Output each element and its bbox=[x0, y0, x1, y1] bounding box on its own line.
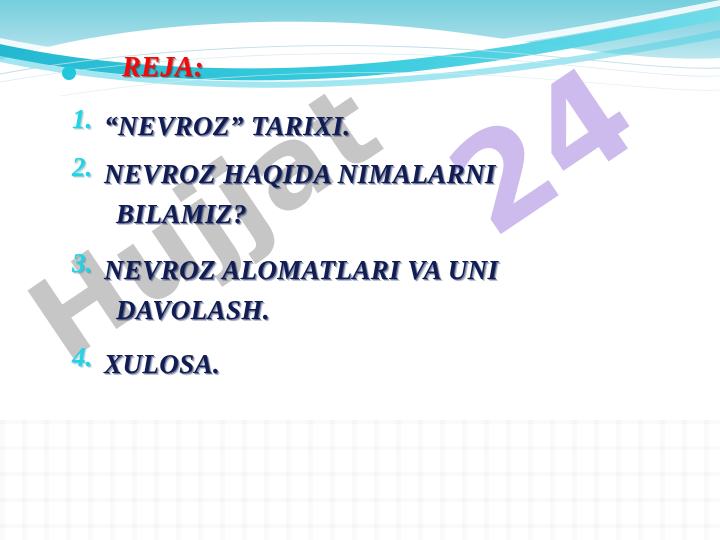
list-item: 2. NEVROZ HAQIDA NIMALARNI BILAMIZ? bbox=[72, 154, 496, 234]
list-item-label: NEVROZ ALOMATLARI VA UNI bbox=[104, 255, 498, 285]
list-item-number: 2. bbox=[72, 154, 104, 181]
list-item-number: 3. bbox=[72, 250, 104, 277]
list-item-label: XULOSA. bbox=[104, 344, 220, 384]
list-item: 4. XULOSA. bbox=[72, 344, 220, 384]
heading-row: REJA: bbox=[62, 54, 204, 82]
list-item-label-continued: BILAMIZ? bbox=[104, 194, 496, 234]
bullet-icon bbox=[62, 66, 76, 80]
list-item: 3. NEVROZ ALOMATLARI VA UNI DAVOLASH. bbox=[72, 250, 498, 330]
list-item: 1. “NEVROZ” TARIXI. bbox=[72, 106, 350, 146]
list-item-label-group: NEVROZ ALOMATLARI VA UNI DAVOLASH. bbox=[104, 250, 498, 330]
page-title: REJA: bbox=[122, 54, 204, 82]
list-item-label-group: NEVROZ HAQIDA NIMALARNI BILAMIZ? bbox=[104, 154, 496, 234]
list-item-label: NEVROZ HAQIDA NIMALARNI bbox=[104, 159, 496, 189]
slide-content: REJA: 1. “NEVROZ” TARIXI. 2. NEVROZ HAQI… bbox=[0, 0, 720, 540]
list-item-label-continued: DAVOLASH. bbox=[104, 290, 498, 330]
list-item-label: “NEVROZ” TARIXI. bbox=[104, 106, 350, 146]
list-item-number: 4. bbox=[72, 344, 104, 371]
list-item-number: 1. bbox=[72, 106, 104, 133]
presentation-slide: 24 Hujjat REJA: 1. “NEVROZ” TARIXI. 2. N… bbox=[0, 0, 720, 540]
